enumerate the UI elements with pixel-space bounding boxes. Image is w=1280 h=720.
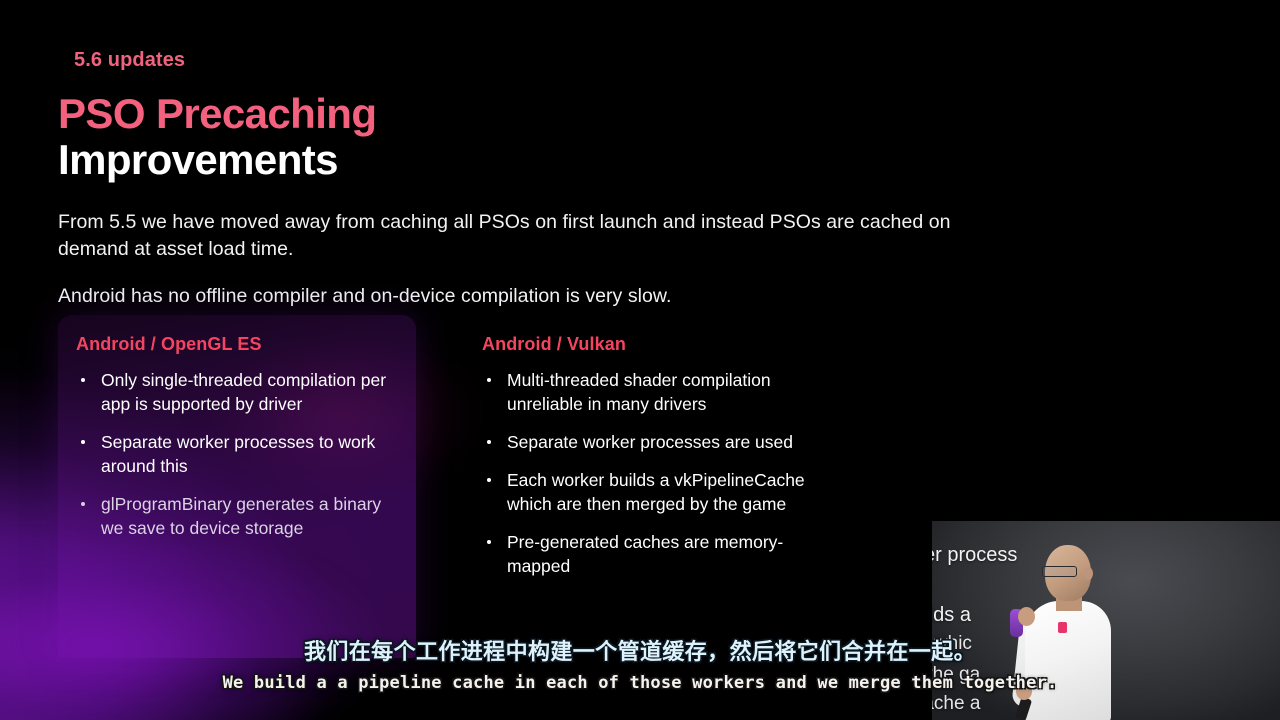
slide-screenshot: 5.6 updates PSO Precaching Improvements … (0, 0, 1280, 720)
bullet-list-opengl: Only single-threaded compilation per app… (76, 369, 406, 541)
list-item: Pre-generated caches are memory-mapped (482, 531, 812, 579)
column-vulkan: Android / Vulkan Multi-threaded shader c… (482, 334, 812, 593)
subtitle-chinese: 我们在每个工作进程中构建一个管道缓存，然后将它们合并在一起。 (0, 634, 1280, 666)
pip-slide-text-2: builds a (932, 604, 971, 627)
list-item: Only single-threaded compilation per app… (76, 369, 406, 417)
page-title: PSO Precaching Improvements (58, 92, 376, 182)
list-item: glProgramBinary generates a binary we sa… (76, 493, 406, 541)
page-title-line-2: Improvements (58, 138, 376, 182)
glasses-icon (1042, 566, 1077, 577)
slide-kicker: 5.6 updates (74, 49, 185, 72)
pip-slide-text-5: g cache a (932, 693, 980, 715)
list-item: Each worker builds a vkPipelineCache whi… (482, 469, 812, 517)
speaker-shirt-logo (1058, 622, 1067, 633)
page-title-line-1: PSO Precaching (58, 92, 376, 136)
body-paragraph-2: Android has no offline compiler and on-d… (58, 283, 978, 310)
column-heading-opengl: Android / OpenGL ES (76, 334, 406, 355)
subtitle-english: We build a a pipeline cache in each of t… (0, 673, 1280, 693)
pip-slide-text-1: ker process (932, 544, 1017, 567)
speaker-ear (1084, 567, 1093, 580)
list-item: Separate worker processes are used (482, 431, 812, 455)
list-item: Separate worker processes to work around… (76, 431, 406, 479)
column-opengl-es: Android / OpenGL ES Only single-threaded… (76, 334, 406, 555)
background-bottom-glow (0, 540, 500, 720)
speaker-hand-mic (1018, 607, 1035, 626)
list-item: Multi-threaded shader compilation unreli… (482, 369, 812, 417)
body-paragraph-1: From 5.5 we have moved away from caching… (58, 209, 978, 262)
column-heading-vulkan: Android / Vulkan (482, 334, 812, 355)
bullet-list-vulkan: Multi-threaded shader compilation unreli… (482, 369, 812, 579)
